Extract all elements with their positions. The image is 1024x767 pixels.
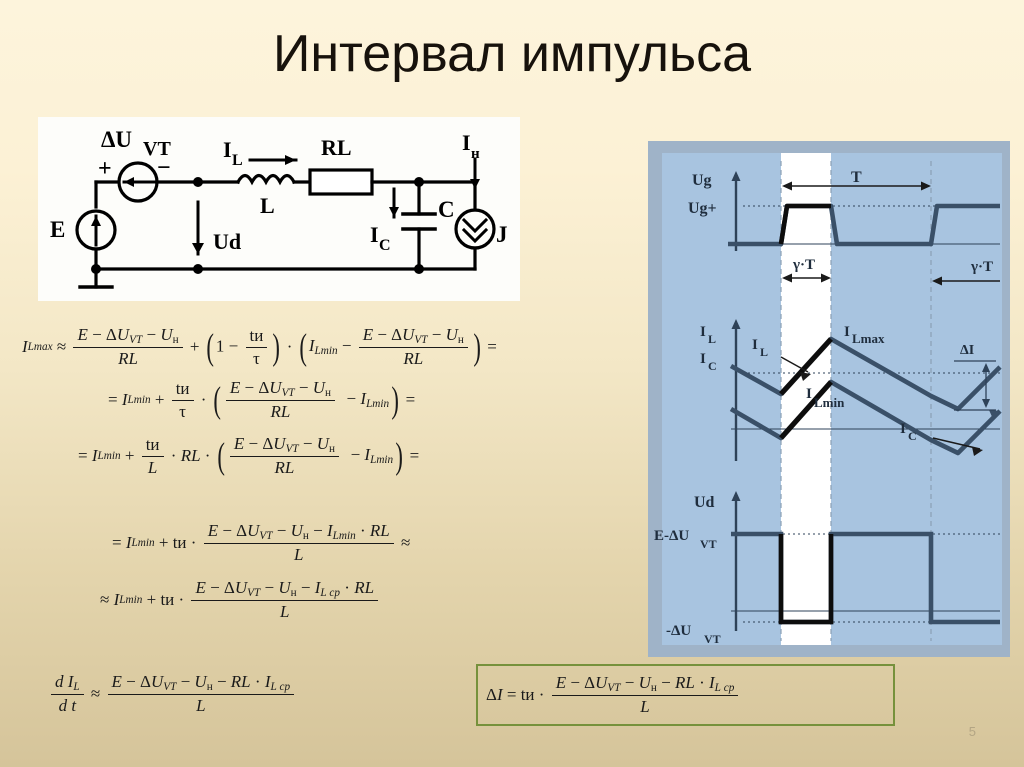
current-axis-label-ic-sub: C xyxy=(708,359,717,373)
current-axis-label-il-sub: L xyxy=(708,332,716,346)
waveform-chart: Ug Ug+ T γ·T γ·T xyxy=(648,141,1010,657)
ud-high-label-sub: VT xyxy=(700,537,717,551)
ic-trace-label: I xyxy=(900,421,906,437)
ilmin-label-sub: Lmin xyxy=(814,395,845,410)
delta-i-label: ΔI xyxy=(960,343,974,358)
page-title: Интервал импульса xyxy=(0,24,1024,84)
page-number: 5 xyxy=(969,724,976,739)
formula-line-1: ILmax ≈ E − ΔUVT − UнRL + ( 1 − tиτ ) · … xyxy=(22,325,497,369)
voltage-axis-label: Ud xyxy=(694,494,715,511)
circuit-label-rl: RL xyxy=(321,135,352,160)
duty-label-left: γ·T xyxy=(792,257,815,273)
waveform-diagram-panel: Ug Ug+ T γ·T γ·T xyxy=(648,141,1010,657)
gate-axis-label: Ug xyxy=(692,172,712,189)
circuit-label-ud: Ud xyxy=(213,229,241,254)
formula-delta-i: ΔI = tи · E − ΔUVT − Uн − RL · IL ср L xyxy=(486,673,741,717)
period-label: T xyxy=(851,169,862,186)
circuit-label-ic: I xyxy=(370,222,379,247)
formula-derivative: d ILd t ≈ E − ΔUVT − Uн − RL · IL ср L xyxy=(48,672,297,716)
circuit-schematic: ΔU VT + − E I L L RL C I C I н J Ud xyxy=(38,117,520,301)
circuit-label-l: L xyxy=(260,193,275,218)
delta-i-formula-box: ΔI = tи · E − ΔUVT − Uн − RL · IL ср L xyxy=(476,664,895,726)
ilmax-label-sub: Lmax xyxy=(852,331,885,346)
circuit-label-plus: + xyxy=(98,156,112,182)
circuit-label-ih-sub: н xyxy=(471,146,480,162)
circuit-label-il-sub: L xyxy=(232,152,243,169)
duty-label-right: γ·T xyxy=(970,259,993,275)
circuit-label-delta-u: ΔU xyxy=(101,127,132,152)
ic-trace-label-sub: C xyxy=(908,429,917,443)
formula-line-3: = ILmin + tиL · RL · ( E − ΔUVT − UнRL −… xyxy=(78,434,419,478)
il-trace-label-sub: L xyxy=(760,345,768,359)
formula-line-2: = ILmin + tиτ · ( E − ΔUVT − UнRL − ILmi… xyxy=(108,378,415,422)
formula-line-4: = ILmin + tи · E − ΔUVT − Uн − ILmin · R… xyxy=(112,521,410,565)
current-axis-label-il: I xyxy=(700,324,706,340)
circuit-label-minus: − xyxy=(157,155,171,181)
il-trace-label: I xyxy=(752,337,758,353)
circuit-label-ih: I xyxy=(462,130,471,155)
ud-high-label: E-ΔU xyxy=(654,528,689,544)
circuit-label-c: C xyxy=(438,197,455,222)
current-axis-label-ic: I xyxy=(700,351,706,367)
formula-line-5: ≈ ILmin + tи · E − ΔUVT − Uн − IL ср · R… xyxy=(100,578,381,622)
ilmax-label: I xyxy=(844,324,850,340)
circuit-diagram-panel: ΔU VT + − E I L L RL C I C I н J Ud xyxy=(38,117,520,301)
circuit-label-ic-sub: C xyxy=(379,237,391,254)
circuit-label-e: E xyxy=(50,217,65,242)
circuit-label-il: I xyxy=(223,137,232,162)
circuit-label-j: J xyxy=(496,222,508,247)
ilmin-label: I xyxy=(806,386,812,402)
gate-level-label: Ug+ xyxy=(688,200,717,217)
ud-low-label: -ΔU xyxy=(666,623,691,639)
ud-low-label-sub: VT xyxy=(704,632,721,646)
